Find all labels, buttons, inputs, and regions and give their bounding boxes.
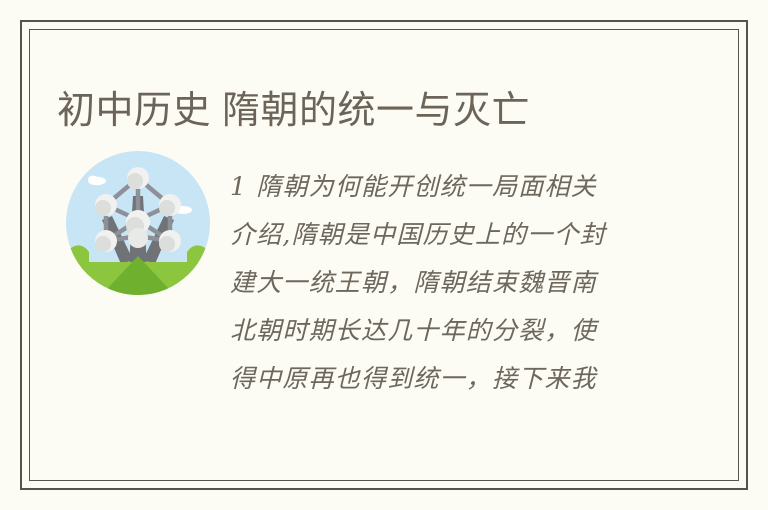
atomium-illustration (65, 148, 211, 298)
article-line: 1 隋朝为何能开创统一局面相关 (230, 163, 650, 211)
article-line: 得中原再也得到统一，接下来我 (230, 355, 650, 403)
article-card: 初中历史 隋朝的统一与灭亡 (0, 0, 768, 510)
article-line: 介绍,隋朝是中国历史上的一个封 (230, 211, 650, 259)
page-title: 初中历史 隋朝的统一与灭亡 (57, 87, 697, 135)
article-line: 北朝时期长达几十年的分裂，使 (230, 307, 650, 355)
article-line: 建大一统王朝，隋朝结束魏晋南 (230, 259, 650, 307)
article-body: 1 隋朝为何能开创统一局面相关 介绍,隋朝是中国历史上的一个封 建大一统王朝，隋… (230, 163, 650, 403)
